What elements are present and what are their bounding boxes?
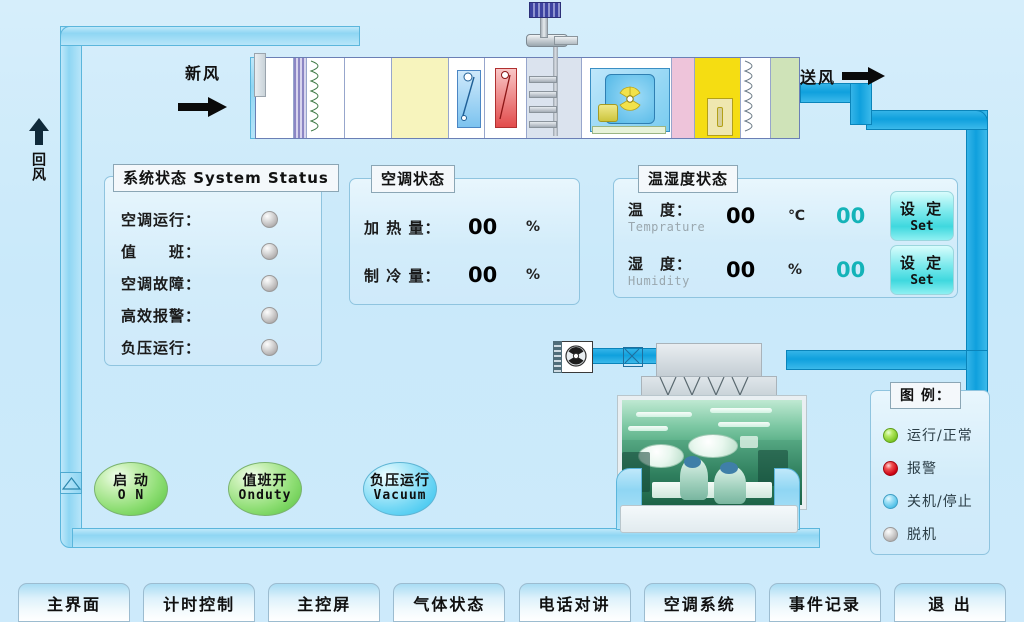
duct-supply-elbow (850, 83, 872, 125)
control-button-label-cn: 负压运行 (370, 474, 430, 489)
system-status-label: 空调运行： (121, 209, 261, 230)
exhaust-fan-flange (553, 341, 562, 373)
set-button[interactable]: 设 定Set (890, 191, 954, 241)
temp-humidity-label-group: 温 度：Temprature (628, 199, 726, 234)
temp-humidity-panel: 温 度：Temprature00℃00设 定Set湿 度：Humidity00%… (613, 178, 958, 298)
system-status-row: 值 班： (121, 235, 321, 267)
hvac-status-row: 加 热 量：00% (364, 203, 579, 251)
door-handle (717, 107, 723, 127)
or-light-tube-3 (718, 422, 770, 427)
tab-2[interactable]: 主控屏 (268, 583, 380, 622)
temp-humidity-label: 湿 度： (628, 253, 726, 274)
ahu-section-pink-filter (672, 58, 695, 138)
tab-label: 计时控制 (163, 591, 235, 615)
legend-panel: 运行/正常报警关机/停止脱机 (870, 390, 990, 555)
return-air-arrow-icon (28, 118, 50, 146)
legend-item: 脱机 (883, 524, 989, 544)
system-status-row: 空调故障： (121, 267, 321, 299)
or-operating-table (652, 482, 772, 498)
exhaust-damper-icon (623, 347, 643, 367)
temp-humidity-setpoint: 00 (836, 204, 890, 228)
set-button-label-cn: 设 定 (900, 252, 944, 273)
system-status-label: 值 班： (121, 241, 261, 262)
fresh-air-damper-blade (254, 53, 266, 97)
control-button-vacuum[interactable]: 负压运行Vacuum (363, 462, 437, 516)
ahu-section-fan (582, 58, 673, 138)
supply-air-arrow-icon (842, 66, 886, 86)
legend-lamp-icon (883, 428, 898, 443)
fan-blades-icon (615, 84, 645, 114)
legend-item: 运行/正常 (883, 425, 989, 445)
legend-title: 图 例： (890, 382, 961, 409)
control-button-label-en: O N (118, 489, 144, 504)
hvac-status-value: 00 (468, 263, 526, 287)
set-button[interactable]: 设 定Set (890, 245, 954, 295)
legend-label: 脱机 (907, 524, 937, 544)
status-lamp-icon (261, 275, 278, 292)
hvac-scada-screen: 新风 送风 回风 空调运行：值 班：空调故障：高效报警：负压运行： 系统状态 S… (0, 0, 1024, 622)
system-status-row: 负压运行： (121, 331, 321, 363)
humidifier-valve-outlet (554, 36, 578, 45)
temp-humidity-unit: % (788, 262, 836, 278)
legend-label: 关机/停止 (907, 491, 973, 511)
hvac-status-unit: % (526, 219, 540, 235)
humidifier-valve-actuator (529, 2, 561, 18)
temp-humidity-setpoint: 00 (836, 258, 890, 282)
supply-plenum (656, 343, 762, 378)
temp-humidity-sublabel: Temprature (628, 220, 726, 234)
heater-valve-icon (495, 68, 517, 128)
temp-humidity-unit: ℃ (788, 208, 836, 224)
humidifier-spray-bar-4 (529, 121, 557, 128)
set-button-label-en: Set (910, 219, 933, 234)
tab-1[interactable]: 计时控制 (143, 583, 255, 622)
legend-label: 报警 (907, 458, 937, 478)
control-button-label-cn: 值班开 (243, 474, 288, 489)
temp-humidity-value: 00 (726, 258, 788, 282)
tab-label: 气体状态 (413, 591, 485, 615)
ahu-section-yellow-filter-2 (695, 58, 740, 138)
ahu-section-final-coil (741, 58, 771, 138)
control-button-label-en: Vacuum (374, 489, 427, 504)
ahu-section-yellow-filter (392, 58, 449, 138)
tab-3[interactable]: 气体状态 (393, 583, 505, 622)
damper-triangle-icon (62, 476, 81, 491)
duct-top-horizontal (60, 26, 360, 46)
or-staff-1-cap (684, 456, 701, 468)
return-air-label: 回风 (28, 152, 48, 182)
set-button-label-en: Set (910, 273, 933, 288)
exhaust-fan-icon (562, 342, 590, 370)
system-status-panel: 空调运行：值 班：空调故障：高效报警：负压运行： (104, 176, 322, 366)
temp-humidity-title: 温湿度状态 (638, 165, 738, 193)
legend-lamp-icon (883, 461, 898, 476)
system-status-label: 空调故障： (121, 273, 261, 294)
fresh-air-label: 新风 (178, 60, 228, 84)
legend-lamp-icon (883, 527, 898, 542)
tab-4[interactable]: 电话对讲 (519, 583, 631, 622)
control-button-label-cn: 启 动 (113, 474, 149, 489)
temp-humidity-value: 00 (726, 204, 788, 228)
set-button-label-cn: 设 定 (900, 198, 944, 219)
or-light-tube-1 (636, 412, 692, 417)
surgical-lamp-2 (688, 434, 738, 458)
humidifier-spray-bar-2 (529, 91, 557, 98)
coil-icon (307, 58, 345, 138)
temp-humidity-row: 湿 度：Humidity00%00设 定Set (628, 243, 957, 297)
tab-label: 空调系统 (664, 591, 736, 615)
cooling-valve-icon (457, 70, 481, 128)
tab-5[interactable]: 空调系统 (644, 583, 756, 622)
hvac-status-label: 制 冷 量： (364, 265, 468, 286)
tab-7[interactable]: 退 出 (894, 583, 1006, 622)
access-door (707, 98, 733, 136)
tab-label: 主控屏 (297, 591, 351, 615)
or-light-tube-4 (628, 426, 668, 431)
fan-housing (590, 68, 670, 132)
temp-humidity-label: 温 度： (628, 199, 726, 220)
ahu-section-hepa-green (771, 58, 799, 138)
fresh-air-label-group: 新风 (178, 60, 228, 122)
tab-label: 退 出 (928, 591, 972, 615)
bottom-tab-bar: 主界面计时控制主控屏气体状态电话对讲空调系统事件记录退 出 (0, 583, 1024, 622)
legend-label: 运行/正常 (907, 425, 973, 445)
air-handling-unit (255, 57, 800, 139)
ahu-section-heating-yellow (345, 58, 392, 138)
ahu-section-fresh-air-damper (256, 58, 294, 138)
tab-6[interactable]: 事件记录 (769, 583, 881, 622)
control-button-start[interactable]: 启 动O N (94, 462, 168, 516)
return-air-label-group: 回风 (28, 118, 50, 182)
system-status-row: 高效报警： (121, 299, 321, 331)
status-lamp-icon (261, 211, 278, 228)
tab-0[interactable]: 主界面 (18, 583, 130, 622)
duct-top-right-supply (866, 110, 988, 130)
duct-bottom-right-supply (786, 350, 976, 370)
system-status-title: 系统状态 System Status (113, 164, 339, 192)
status-lamp-icon (261, 339, 278, 356)
fan-base (592, 126, 666, 134)
tab-label: 电话对讲 (539, 591, 611, 615)
status-lamp-icon (261, 307, 278, 324)
system-status-label: 负压运行： (121, 337, 261, 358)
hvac-status-panel: 加 热 量：00%制 冷 量：00% (349, 178, 580, 305)
control-button-label-en: Onduty (239, 489, 292, 504)
supply-air-label: 送风 (800, 64, 836, 88)
or-floor-plenum (620, 505, 798, 533)
ahu-section-heater-red (485, 58, 527, 138)
exhaust-fan-unit (561, 341, 593, 373)
hvac-status-unit: % (526, 267, 540, 283)
ahu-section-coil-coils (307, 58, 345, 138)
tab-label: 事件记录 (789, 591, 861, 615)
temp-humidity-row: 温 度：Temprature00℃00设 定Set (628, 189, 957, 243)
system-status-row: 空调运行： (121, 203, 321, 235)
supply-air-label-group: 送风 (800, 64, 886, 88)
humidifier-spray-bar-1 (529, 76, 557, 83)
control-button-onduty[interactable]: 值班开Onduty (228, 462, 302, 516)
legend-item: 关机/停止 (883, 491, 989, 511)
or-staff-2-cap (720, 462, 738, 474)
legend-lamp-icon (883, 494, 898, 509)
fan-motor (598, 104, 618, 122)
temp-humidity-label-group: 湿 度：Humidity (628, 253, 726, 288)
or-wall-panel (740, 436, 758, 448)
legend-item: 报警 (883, 458, 989, 478)
duct-left-vertical (60, 26, 82, 548)
hvac-status-row: 制 冷 量：00% (364, 251, 579, 299)
ahu-section-humidifier (527, 58, 582, 138)
ahu-section-prefilter (294, 58, 307, 138)
tab-label: 主界面 (47, 591, 101, 615)
status-lamp-icon (261, 243, 278, 260)
hvac-status-title: 空调状态 (371, 165, 455, 193)
or-light-tube-2 (710, 408, 772, 413)
humidifier-spray-bar-3 (529, 106, 557, 113)
fresh-air-arrow-icon (178, 96, 228, 118)
hvac-status-value: 00 (468, 215, 526, 239)
hvac-status-label: 加 热 量： (364, 217, 468, 238)
ahu-section-cooling-valve (449, 58, 485, 138)
final-coil-icon (741, 58, 771, 138)
temp-humidity-sublabel: Humidity (628, 274, 726, 288)
system-status-label: 高效报警： (121, 305, 261, 326)
